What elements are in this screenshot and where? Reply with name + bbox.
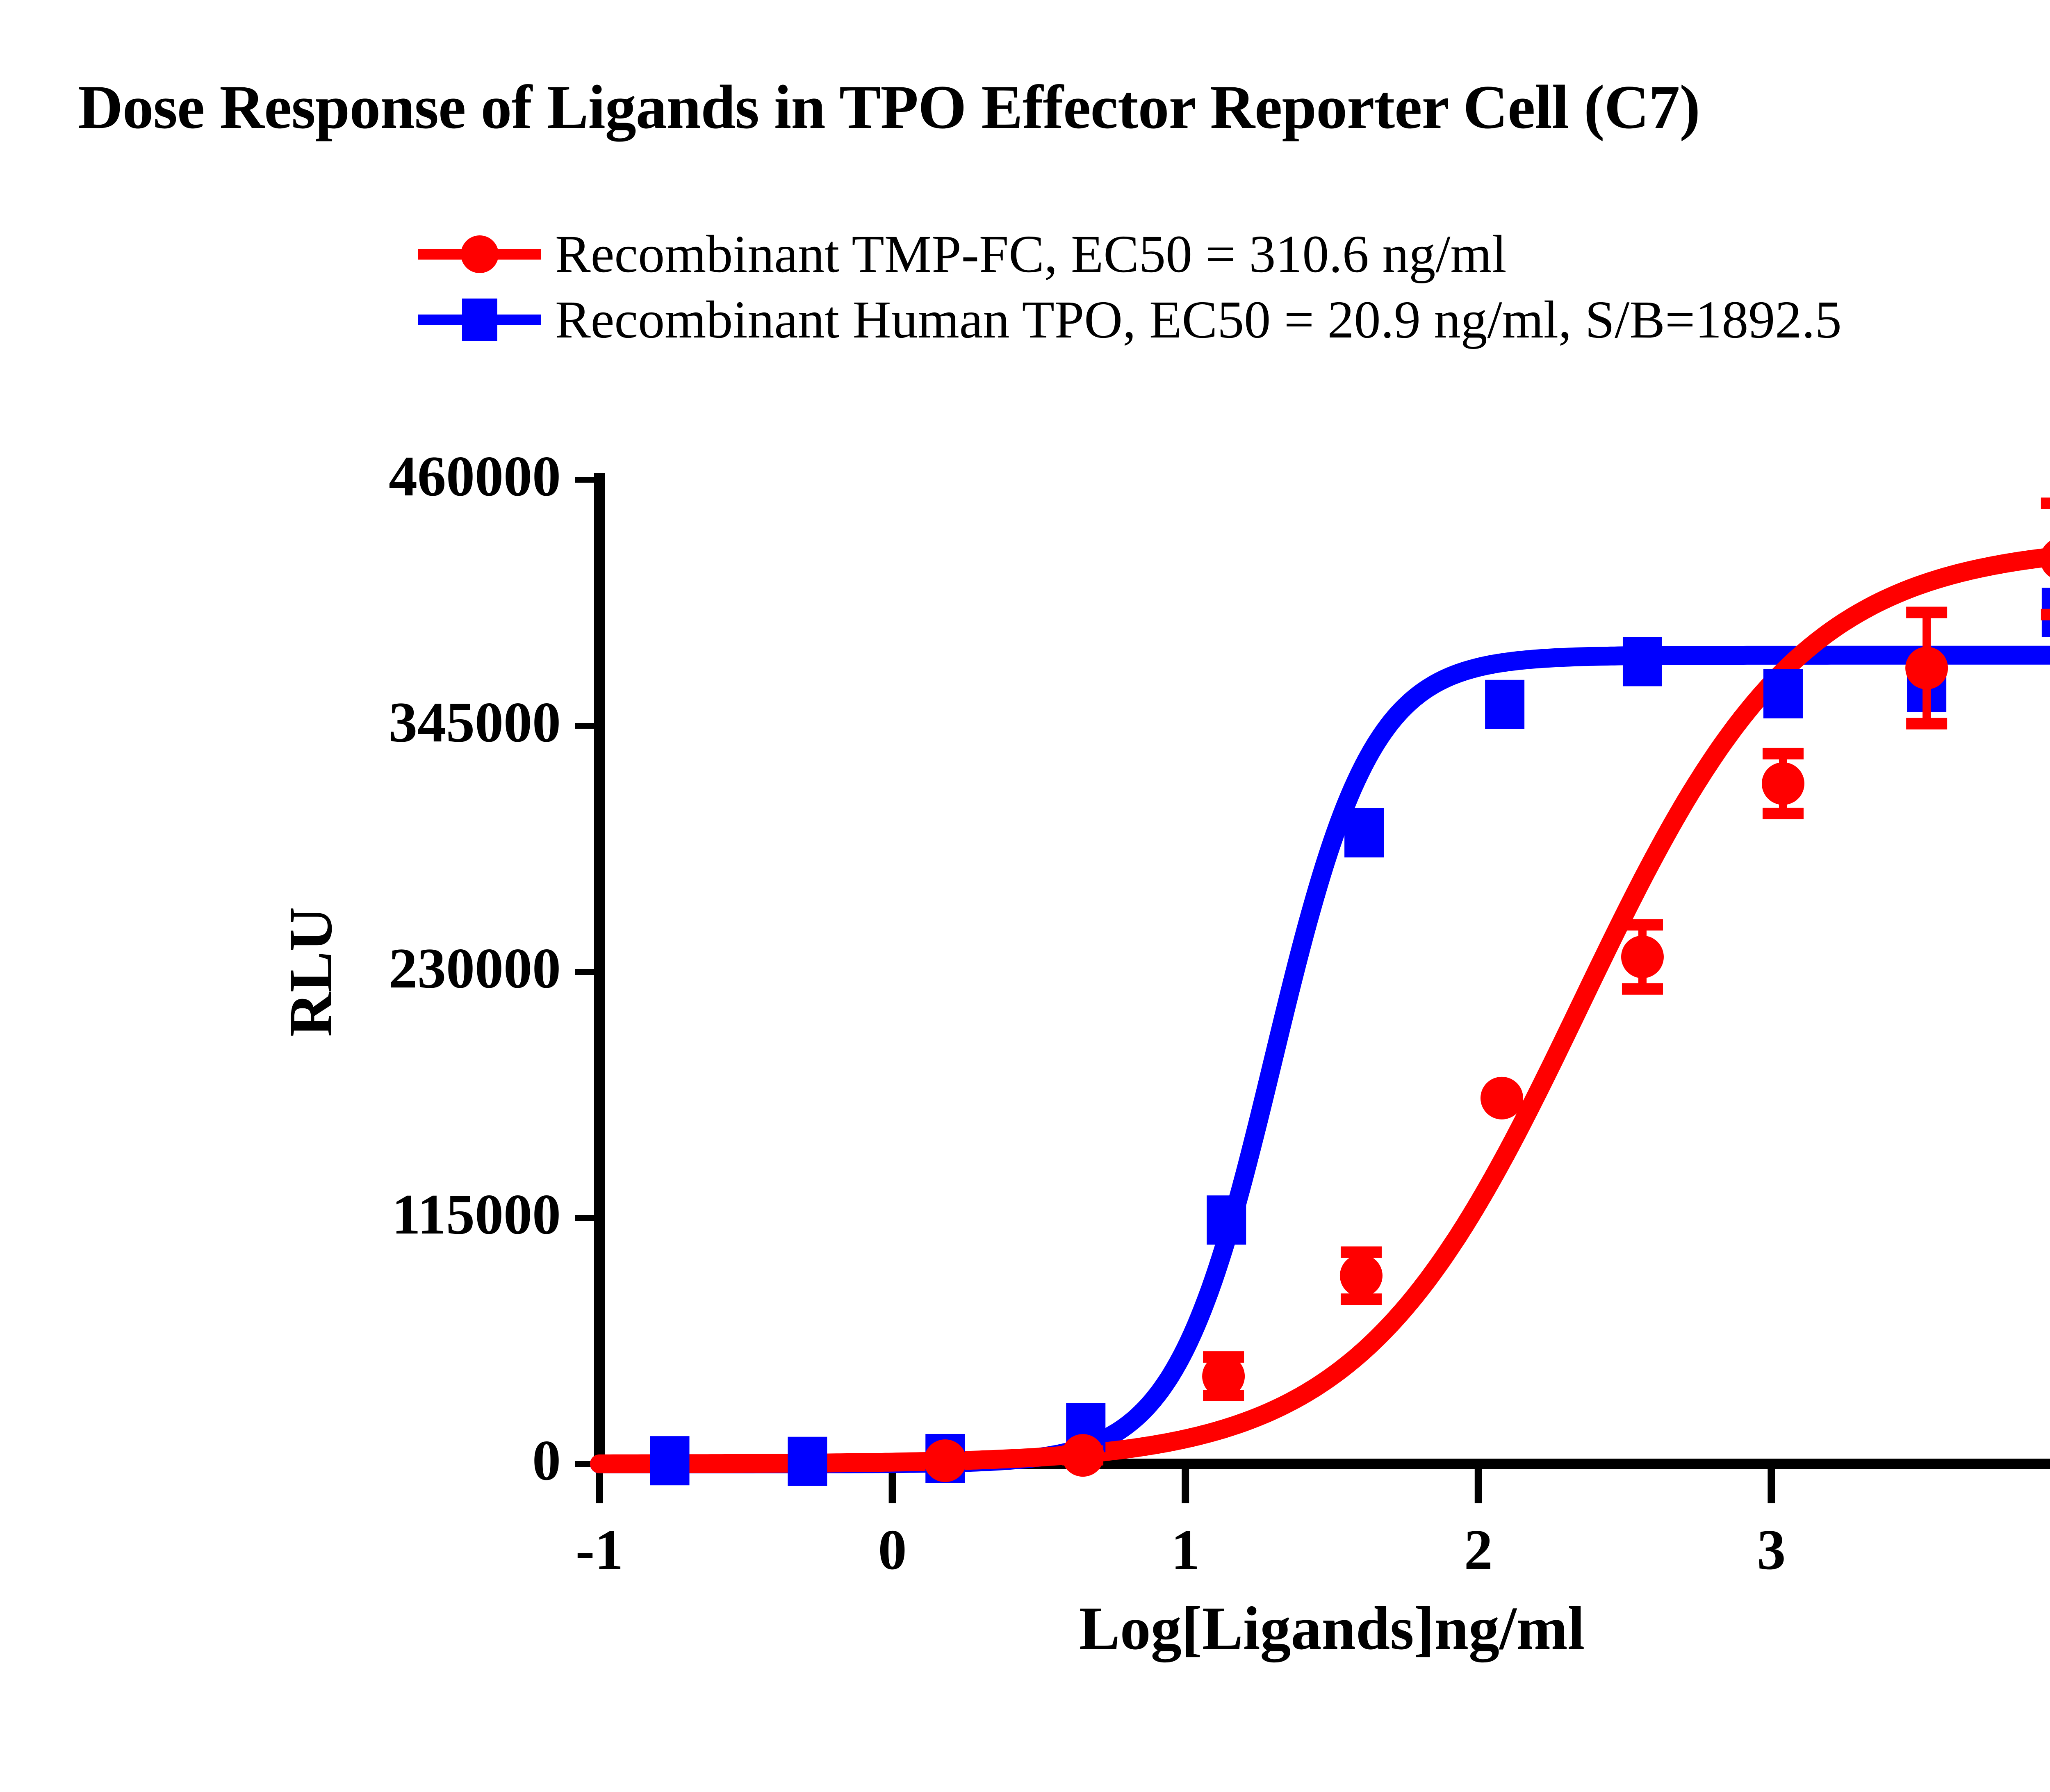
data-point-square (1763, 669, 1803, 718)
x-axis-tick-label: 3 (1757, 1518, 1786, 1582)
y-axis-tick-label: 345000 (389, 691, 561, 754)
axis-titles-group: Log[Ligands]ng/mlRLU (277, 907, 1585, 1662)
series-curve-human-tpo (599, 655, 2050, 1464)
data-point-circle (1905, 647, 1948, 689)
dose-response-plot: 0115000230000345000460000-101234 Log[Lig… (0, 0, 2050, 1792)
x-axis-tick-label: -1 (576, 1518, 624, 1582)
series-curve-tmp-fc (599, 556, 2050, 1464)
x-axis-title: Log[Ligands]ng/ml (1079, 1594, 1585, 1662)
data-point-circle (1762, 762, 1804, 805)
x-axis-tick-label: 1 (1171, 1518, 1200, 1582)
y-axis-title: RLU (277, 907, 345, 1037)
fit-curve (599, 655, 2050, 1464)
data-point-circle (1061, 1434, 1104, 1477)
plot-area: 0115000230000345000460000-101234 Log[Lig… (0, 0, 2050, 1792)
data-point-circle (1202, 1355, 1245, 1398)
fit-curve (599, 556, 2050, 1464)
tick-labels-group: 0115000230000345000460000-101234 (389, 445, 2050, 1582)
y-axis-tick-label: 460000 (389, 445, 561, 508)
chart-page: Dose Response of Ligands in TPO Effector… (0, 0, 2050, 1792)
data-point-square (1207, 1195, 1246, 1245)
data-point-square (788, 1437, 827, 1486)
data-point-circle (924, 1439, 966, 1482)
x-axis-tick-label: 2 (1464, 1518, 1493, 1582)
data-point-square (1623, 637, 1662, 686)
y-axis-tick-label: 0 (532, 1429, 561, 1492)
data-point-circle (1340, 1254, 1383, 1297)
y-axis-tick-label: 230000 (389, 937, 561, 1000)
data-point-square (1485, 680, 1524, 729)
data-point-square (650, 1436, 690, 1485)
data-point-circle (1621, 935, 1664, 978)
x-axis-tick-label: 0 (878, 1518, 907, 1582)
data-point-circle (1481, 1077, 1523, 1119)
data-point-square (1344, 808, 1384, 857)
data-point-circle (2040, 538, 2050, 580)
y-axis-tick-label: 115000 (392, 1183, 561, 1246)
